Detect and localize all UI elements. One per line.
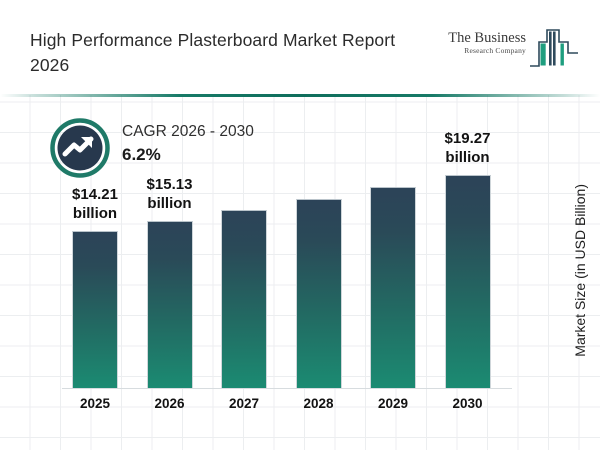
bar-2025[interactable] xyxy=(72,231,118,388)
y-axis-label-text: Market Size (in USD Billion) xyxy=(572,184,588,357)
bar-2029[interactable] xyxy=(370,187,416,388)
x-tick-2030: 2030 xyxy=(428,396,508,411)
chart-canvas: High Performance Plasterboard Market Rep… xyxy=(0,0,600,450)
x-axis-baseline xyxy=(62,388,512,389)
bar-value-label-2026: $15.13billion xyxy=(120,175,220,213)
bar-value-label-line: billion xyxy=(120,194,220,213)
bar-2030[interactable] xyxy=(445,175,491,388)
x-tick-2028: 2028 xyxy=(279,396,359,411)
bar-value-label-line: $15.13 xyxy=(120,175,220,194)
y-axis-label: Market Size (in USD Billion) xyxy=(568,150,592,390)
x-tick-2025: 2025 xyxy=(55,396,135,411)
bar-2028[interactable] xyxy=(296,199,342,388)
bar-value-label-2030: $19.27billion xyxy=(418,129,518,167)
bar-2027[interactable] xyxy=(221,210,267,388)
bar-value-label-line: billion xyxy=(418,148,518,167)
bar-chart-plot: $14.21billion$15.13billion$19.27billion … xyxy=(0,0,600,450)
x-tick-2029: 2029 xyxy=(353,396,433,411)
x-tick-2027: 2027 xyxy=(204,396,284,411)
bar-2026[interactable] xyxy=(147,221,193,388)
bar-value-label-line: $19.27 xyxy=(418,129,518,148)
x-tick-2026: 2026 xyxy=(130,396,210,411)
